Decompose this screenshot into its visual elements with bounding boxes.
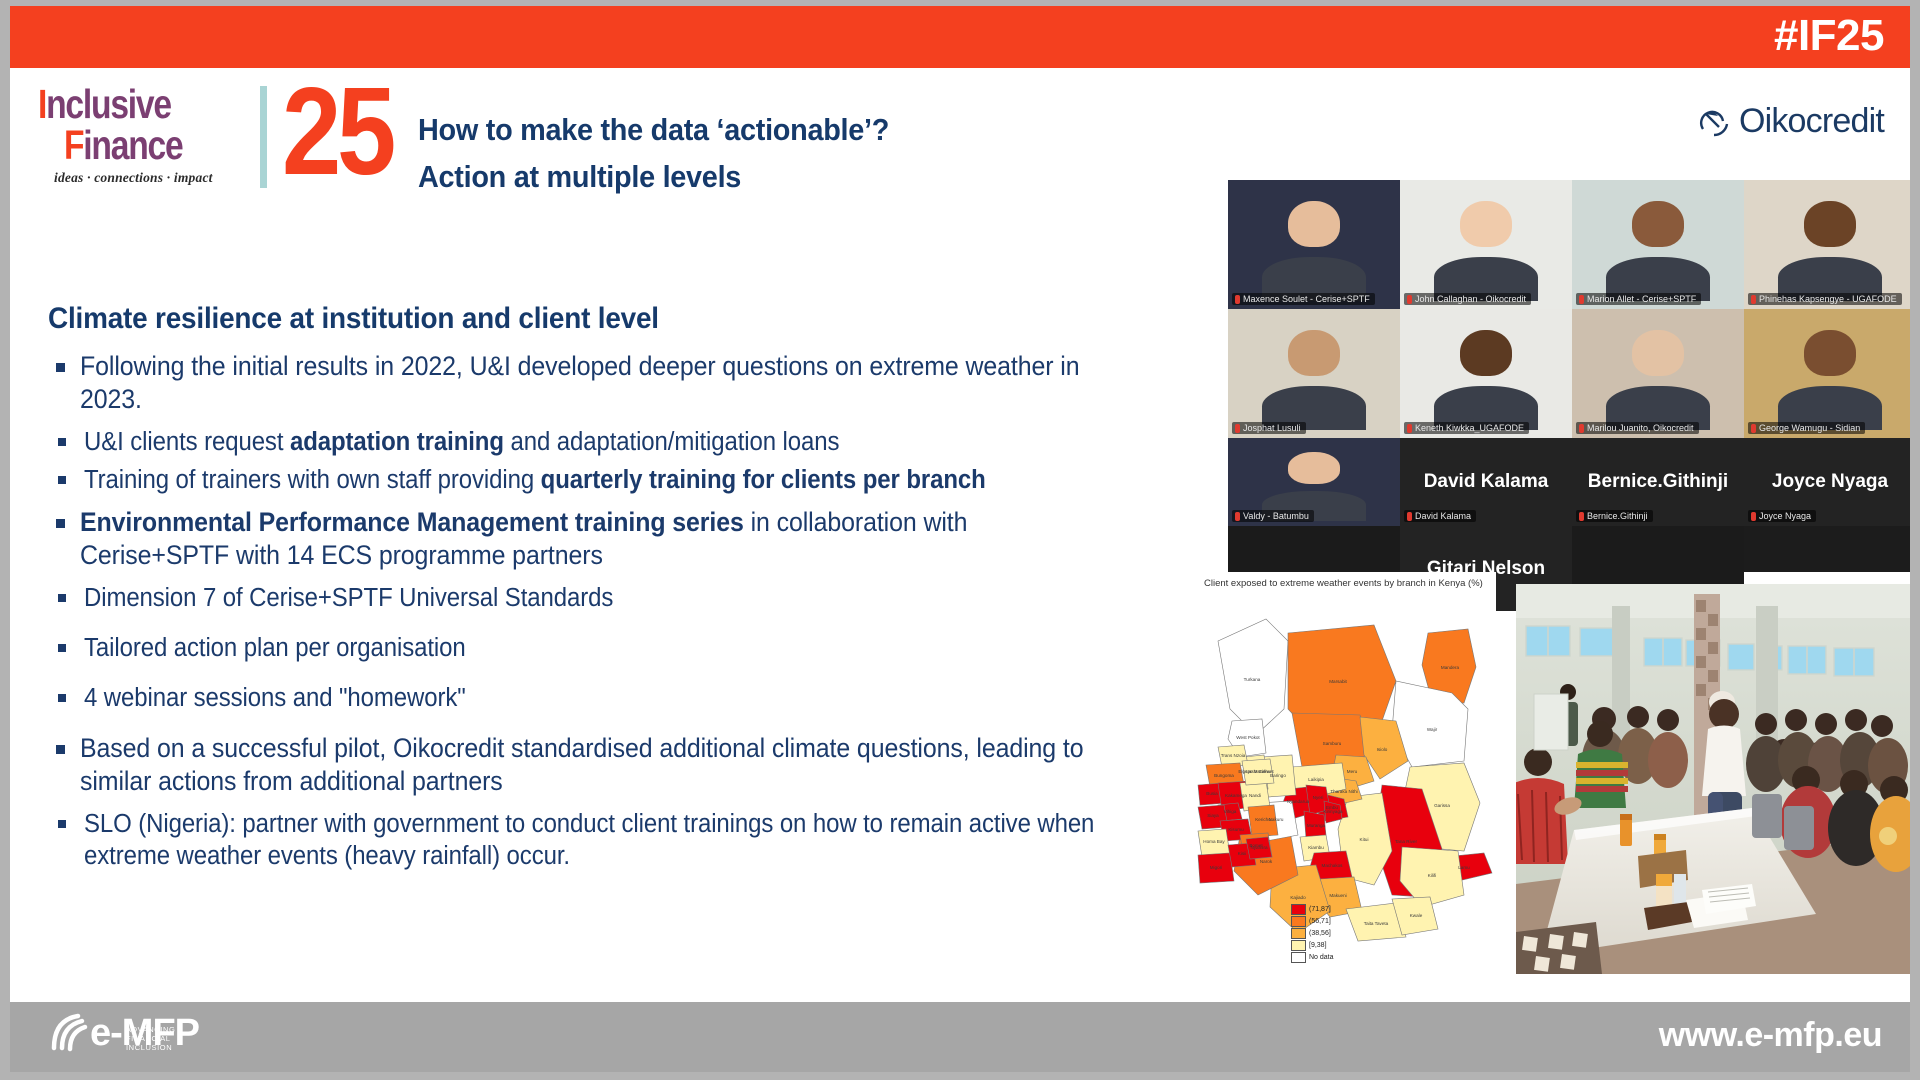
logo-tagline: ideas · connections · impact <box>54 170 253 186</box>
map-region-label: Kisumu <box>1228 827 1244 832</box>
participant-name-badge: Josphat Lusuli <box>1232 422 1306 434</box>
muted-mic-icon <box>1579 295 1584 304</box>
bullet-item: 4 webinar sessions and "homework" <box>48 682 1188 714</box>
map-region-label: Turkana <box>1244 677 1261 682</box>
map-region-label: Siaya <box>1207 813 1219 818</box>
legend-label: (38,56] <box>1309 930 1331 937</box>
map-region-label: Lamu <box>1458 865 1470 870</box>
map-region-label: Kakamega <box>1225 793 1247 798</box>
oikocredit-logo: Oikocredit <box>1697 102 1884 141</box>
map-region-label: Busia <box>1206 791 1218 796</box>
muted-mic-icon <box>1235 424 1240 433</box>
map-region-label: Taita Taveta <box>1364 921 1389 926</box>
participant-head <box>1288 452 1340 484</box>
bullet-item: Based on a successful pilot, Oikocredit … <box>48 732 1188 798</box>
map-region-label: Tharaka Nithi <box>1330 789 1357 794</box>
logo-line2-accent: F <box>64 122 83 168</box>
legend-swatch <box>1291 952 1306 963</box>
map-region-label: Kirinyaga <box>1323 809 1343 814</box>
map-region-label: Meru <box>1347 769 1358 774</box>
bullet-item: U&I clients request adaptation training … <box>48 426 1188 458</box>
muted-mic-icon <box>1579 424 1584 433</box>
emfp-logo: e-MFP ADVANCING FINANCIAL INCLUSION <box>48 1012 199 1052</box>
participant-video <box>1228 180 1400 309</box>
logo-wordmark: Inclusive Finance ideas · connections · … <box>38 84 253 186</box>
participant-head <box>1804 330 1856 376</box>
map-region-label: Homa Bay <box>1203 839 1225 844</box>
video-tile[interactable]: Josphat Lusuli <box>1228 309 1400 438</box>
client-training-photo <box>1516 584 1916 974</box>
muted-mic-icon <box>1407 512 1412 521</box>
map-region-label: Migori <box>1210 865 1223 870</box>
bullet-text: Environmental Performance Management tra… <box>80 506 1122 572</box>
participant-video <box>1572 180 1744 309</box>
video-tile[interactable]: David KalamaDavid Kalama <box>1400 438 1572 526</box>
participant-name-badge: Valdy - Batumbu <box>1232 510 1314 522</box>
participant-name-text: Valdy - Batumbu <box>1243 511 1309 521</box>
participant-name-badge: David Kalama <box>1404 510 1476 522</box>
map-region-label: West Pokot <box>1236 735 1260 740</box>
participant-name-badge: Marion Allet - Cerise+SPTF <box>1576 293 1701 305</box>
bullet-list-level-1: Following the initial results in 2022, U… <box>48 350 1188 416</box>
map-region-label: Nyeri <box>1313 795 1324 800</box>
bullet-list-level-2: SLO (Nigeria): partner with government t… <box>48 808 1188 872</box>
participant-name-badge: Phinehas Kapsengye - UGAFODE <box>1748 293 1902 305</box>
slide-title-line-2: Action at multiple levels <box>418 153 1088 200</box>
map-region-label: Isiolo <box>1377 747 1388 752</box>
slide-title-line-1: How to make the data ‘actionable’? <box>418 106 1088 153</box>
bullet-text: Tailored action plan per organisation <box>84 632 466 664</box>
map-region-label: Muranga <box>1307 823 1326 828</box>
muted-mic-icon <box>1751 295 1756 304</box>
bullet-text: Following the initial results in 2022, U… <box>80 350 1122 416</box>
participant-head <box>1632 201 1684 247</box>
video-tile[interactable]: Phinehas Kapsengye - UGAFODE <box>1744 180 1916 309</box>
video-tile[interactable]: Joyce NyagaJoyce Nyaga <box>1744 438 1916 526</box>
participant-name-text: David Kalama <box>1415 511 1471 521</box>
map-region-label: Tana River <box>1395 839 1417 844</box>
map-region-label: Kajiado <box>1290 895 1306 900</box>
bullet-item: Tailored action plan per organisation <box>48 632 1188 664</box>
map-svg: TurkanaMarsabitManderaWajirSamburuIsiolo… <box>1196 589 1496 944</box>
map-region-label: Nyamira <box>1250 845 1268 850</box>
participant-name-text: Maxence Soulet - Cerise+SPTF <box>1243 294 1370 304</box>
participant-name-large: David Kalama <box>1400 471 1572 493</box>
bullet-list-level-1: Environmental Performance Management tra… <box>48 506 1188 572</box>
participant-video <box>1572 309 1744 438</box>
map-region-label: Kitui <box>1360 837 1369 842</box>
slide-footer: e-MFP ADVANCING FINANCIAL INCLUSION www.… <box>10 1002 1910 1072</box>
participant-head <box>1460 330 1512 376</box>
participant-name-badge: Maxence Soulet - Cerise+SPTF <box>1232 293 1375 305</box>
participant-name-badge: Bernice.Githinji <box>1576 510 1653 522</box>
oikocredit-mark-icon <box>1697 105 1731 139</box>
muted-mic-icon <box>1407 295 1412 304</box>
logo-line-1: Inclusive <box>38 84 214 124</box>
presentation-slide: #IF25 Inclusive Finance ideas · connecti… <box>0 0 1920 1080</box>
muted-mic-icon <box>1751 512 1756 521</box>
map-region-label: Marsabit <box>1329 679 1347 684</box>
event-hashtag: #IF25 <box>1774 11 1884 61</box>
participant-video <box>1400 180 1572 309</box>
video-tile[interactable]: Marion Allet - Cerise+SPTF <box>1572 180 1744 309</box>
participant-head <box>1288 330 1340 376</box>
logo-line2-rest: inance <box>83 122 182 168</box>
legend-label: (56,71] <box>1309 918 1331 925</box>
legend-item: (71,87] <box>1291 904 1334 915</box>
logo-line1-accent: I <box>38 81 46 127</box>
bullet-item: Training of trainers with own staff prov… <box>48 464 1188 496</box>
website-url: www.e-mfp.eu <box>1659 1016 1882 1055</box>
bullet-text: 4 webinar sessions and "homework" <box>84 682 466 714</box>
video-tile[interactable]: Keneth Kiwkka_UGAFODE <box>1400 309 1572 438</box>
bullet-item: SLO (Nigeria): partner with government t… <box>48 808 1188 872</box>
participant-head <box>1804 201 1856 247</box>
participant-video <box>1744 309 1916 438</box>
bullet-text: Training of trainers with own staff prov… <box>84 464 986 496</box>
top-orange-band <box>10 6 1910 68</box>
bullet-item: Following the initial results in 2022, U… <box>48 350 1188 416</box>
body-heading: Climate resilience at institution and cl… <box>48 302 1188 336</box>
muted-mic-icon <box>1235 295 1240 304</box>
map-region-label: Narok <box>1260 859 1273 864</box>
map-region-label: Mandera <box>1441 665 1460 670</box>
participant-name-text: Phinehas Kapsengye - UGAFODE <box>1759 294 1897 304</box>
video-conference-screenshot: Maxence Soulet - Cerise+SPTFJohn Callagh… <box>1228 180 1916 572</box>
map-region-label: Laikipia <box>1308 777 1324 782</box>
participant-name-badge: Keneth Kiwkka_UGAFODE <box>1404 422 1529 434</box>
logo-edition-number: 25 <box>282 70 392 194</box>
participant-head <box>1632 330 1684 376</box>
body-heading-text: Climate resilience at institution and cl… <box>48 302 659 336</box>
muted-mic-icon <box>1235 512 1240 521</box>
map-region-label: Trans Nzoia <box>1221 753 1246 758</box>
map-legend: (71,87](56,71](38,56][9,38]No data <box>1291 904 1334 964</box>
participant-name-text: Keneth Kiwkka_UGAFODE <box>1415 423 1524 433</box>
map-region-label: Nakuru <box>1269 817 1284 822</box>
map-region-label: Wajir <box>1427 727 1438 732</box>
logo-line-2: Finance <box>64 124 219 166</box>
bullet-list-level-2: Dimension 7 of Cerise+SPTF Universal Sta… <box>48 582 1188 714</box>
map-region-label: Makueni <box>1329 893 1346 898</box>
participant-video <box>1228 309 1400 438</box>
slide-title: How to make the data ‘actionable’? Actio… <box>418 106 1138 200</box>
bullet-list-level-1: Based on a successful pilot, Oikocredit … <box>48 732 1188 798</box>
participant-name-text: Marilou Juanito, Oikocredit <box>1587 423 1694 433</box>
kenya-choropleth-map: Client exposed to extreme weather events… <box>1196 572 1496 972</box>
participant-name-text: Marion Allet - Cerise+SPTF <box>1587 294 1696 304</box>
legend-swatch <box>1291 904 1306 915</box>
bullet-text: Dimension 7 of Cerise+SPTF Universal Sta… <box>84 582 613 614</box>
bullet-text: Based on a successful pilot, Oikocredit … <box>80 732 1122 798</box>
legend-label: [9,38] <box>1309 942 1327 949</box>
video-tile[interactable]: Maxence Soulet - Cerise+SPTF <box>1228 180 1400 309</box>
legend-label: No data <box>1309 954 1334 961</box>
logo-line1-rest: nclusive <box>46 81 171 127</box>
participant-video <box>1400 309 1572 438</box>
muted-mic-icon <box>1751 424 1756 433</box>
map-region-label: Kwale <box>1410 913 1423 918</box>
bullet-item: Environmental Performance Management tra… <box>48 506 1188 572</box>
map-region-label: Machakos <box>1322 863 1344 868</box>
video-grid-row: Josphat LusuliKeneth Kiwkka_UGAFODEMaril… <box>1228 309 1916 438</box>
emfp-tagline: ADVANCING FINANCIAL INCLUSION <box>126 1025 199 1052</box>
participant-head <box>1288 201 1340 247</box>
video-tile[interactable]: Bernice.GithinjiBernice.Githinji <box>1572 438 1744 526</box>
map-region-label: Nyandarua <box>1287 799 1310 804</box>
participant-name-text: John Callaghan - Oikocredit <box>1415 294 1526 304</box>
muted-mic-icon <box>1407 424 1412 433</box>
map-region-label: Kiambu <box>1308 845 1324 850</box>
map-region-label: Bungoma <box>1214 773 1234 778</box>
bullet-list-level-2: U&I clients request adaptation training … <box>48 426 1188 496</box>
participant-head <box>1460 201 1512 247</box>
video-grid-row: Maxence Soulet - Cerise+SPTFJohn Callagh… <box>1228 180 1916 309</box>
muted-mic-icon <box>1579 512 1584 521</box>
legend-label: (71,87] <box>1309 906 1331 913</box>
map-region-label: Garissa <box>1434 803 1450 808</box>
legend-item: [9,38] <box>1291 940 1334 951</box>
participant-name-badge: Marilou Juanito, Oikocredit <box>1576 422 1699 434</box>
emfp-waves-icon <box>48 1012 88 1052</box>
participant-name-text: Josphat Lusuli <box>1243 423 1301 433</box>
participant-name-badge: John Callaghan - Oikocredit <box>1404 293 1531 305</box>
video-grid-row: Valdy - BatumbuDavid KalamaDavid KalamaB… <box>1228 438 1916 526</box>
training-room-illustration <box>1516 584 1916 974</box>
oikocredit-name: Oikocredit <box>1739 102 1884 141</box>
participant-name-text: Bernice.Githinji <box>1587 511 1648 521</box>
map-title: Client exposed to extreme weather events… <box>1204 578 1496 589</box>
legend-item: No data <box>1291 952 1334 963</box>
bullet-item: Dimension 7 of Cerise+SPTF Universal Sta… <box>48 582 1188 614</box>
map-region-label: Kilifi <box>1428 873 1436 878</box>
inclusive-finance-logo: Inclusive Finance ideas · connections · … <box>38 84 413 194</box>
video-tile[interactable]: John Callaghan - Oikocredit <box>1400 180 1572 309</box>
slide-body: Climate resilience at institution and cl… <box>48 302 1188 882</box>
participant-video <box>1744 180 1916 309</box>
participant-name-badge: Joyce Nyaga <box>1748 510 1816 522</box>
participant-name-large: Bernice.Githinji <box>1572 471 1744 493</box>
map-region-label: Kericho <box>1255 817 1271 822</box>
legend-swatch <box>1291 916 1306 927</box>
video-tile[interactable]: Valdy - Batumbu <box>1228 438 1400 526</box>
participant-name-text: George Wamugu - Sidian <box>1759 423 1860 433</box>
map-region-label: Vihiga <box>1224 809 1237 814</box>
map-region-label: Uasin Gishu <box>1245 769 1270 774</box>
bullet-text: U&I clients request adaptation training … <box>84 426 839 458</box>
map-region-label: Kisii <box>1238 851 1246 856</box>
video-tile[interactable]: George Wamugu - Sidian <box>1744 309 1916 438</box>
map-region-label: Samburu <box>1323 741 1342 746</box>
legend-swatch <box>1291 940 1306 951</box>
legend-item: (38,56] <box>1291 928 1334 939</box>
video-tile[interactable]: Marilou Juanito, Oikocredit <box>1572 309 1744 438</box>
map-region-label: Nandi <box>1249 793 1261 798</box>
bullet-text: SLO (Nigeria): partner with government t… <box>84 808 1122 872</box>
legend-item: (56,71] <box>1291 916 1334 927</box>
legend-swatch <box>1291 928 1306 939</box>
participant-name-text: Joyce Nyaga <box>1759 511 1811 521</box>
participant-name-large: Joyce Nyaga <box>1744 471 1916 493</box>
logo-divider <box>260 86 267 188</box>
participant-name-badge: George Wamugu - Sidian <box>1748 422 1865 434</box>
